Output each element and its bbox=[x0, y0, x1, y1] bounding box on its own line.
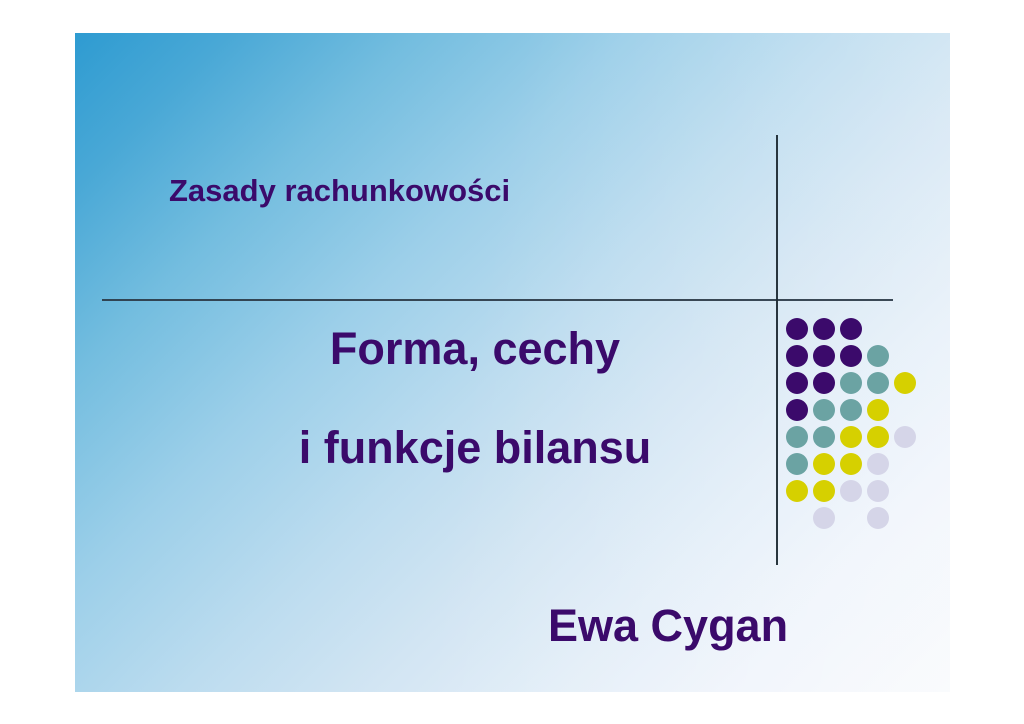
dot-yellow bbox=[786, 480, 808, 502]
dot-yellow bbox=[840, 453, 862, 475]
dot-teal bbox=[813, 399, 835, 421]
subtitle-line-1: Forma, cechy bbox=[185, 326, 765, 371]
dot-teal bbox=[840, 399, 862, 421]
dot-yellow bbox=[840, 426, 862, 448]
dot-matrix-decoration bbox=[786, 318, 936, 543]
dot-yellow bbox=[894, 372, 916, 394]
dot-lavender bbox=[813, 507, 835, 529]
dot-purple bbox=[786, 318, 808, 340]
dot-lavender bbox=[867, 453, 889, 475]
dot-purple bbox=[813, 372, 835, 394]
dot-purple bbox=[786, 372, 808, 394]
subtitle-line-2: i funkcje bilansu bbox=[185, 425, 765, 470]
dot-lavender bbox=[840, 480, 862, 502]
dot-teal bbox=[840, 372, 862, 394]
dot-lavender bbox=[894, 426, 916, 448]
dot-teal bbox=[867, 345, 889, 367]
vertical-divider bbox=[776, 135, 778, 565]
slide-page: Zasady rachunkowości Forma, cechy i funk… bbox=[0, 0, 1024, 724]
slide-title: Zasady rachunkowości bbox=[169, 174, 510, 208]
dot-purple bbox=[813, 345, 835, 367]
dot-purple bbox=[786, 345, 808, 367]
dot-purple bbox=[786, 399, 808, 421]
author-name: Ewa Cygan bbox=[548, 603, 788, 648]
dot-yellow bbox=[813, 480, 835, 502]
dot-purple bbox=[840, 318, 862, 340]
dot-teal bbox=[813, 426, 835, 448]
slide-content-layer: Zasady rachunkowości Forma, cechy i funk… bbox=[75, 33, 950, 692]
dot-lavender bbox=[867, 507, 889, 529]
dot-teal bbox=[786, 426, 808, 448]
dot-yellow bbox=[867, 426, 889, 448]
dot-purple bbox=[813, 318, 835, 340]
dot-yellow bbox=[867, 399, 889, 421]
slide-subtitle: Forma, cechy i funkcje bilansu bbox=[185, 326, 765, 470]
dot-teal bbox=[786, 453, 808, 475]
horizontal-divider bbox=[102, 299, 893, 301]
dot-purple bbox=[840, 345, 862, 367]
dot-teal bbox=[867, 372, 889, 394]
dot-lavender bbox=[867, 480, 889, 502]
dot-yellow bbox=[813, 453, 835, 475]
slide-canvas: Zasady rachunkowości Forma, cechy i funk… bbox=[75, 33, 950, 692]
